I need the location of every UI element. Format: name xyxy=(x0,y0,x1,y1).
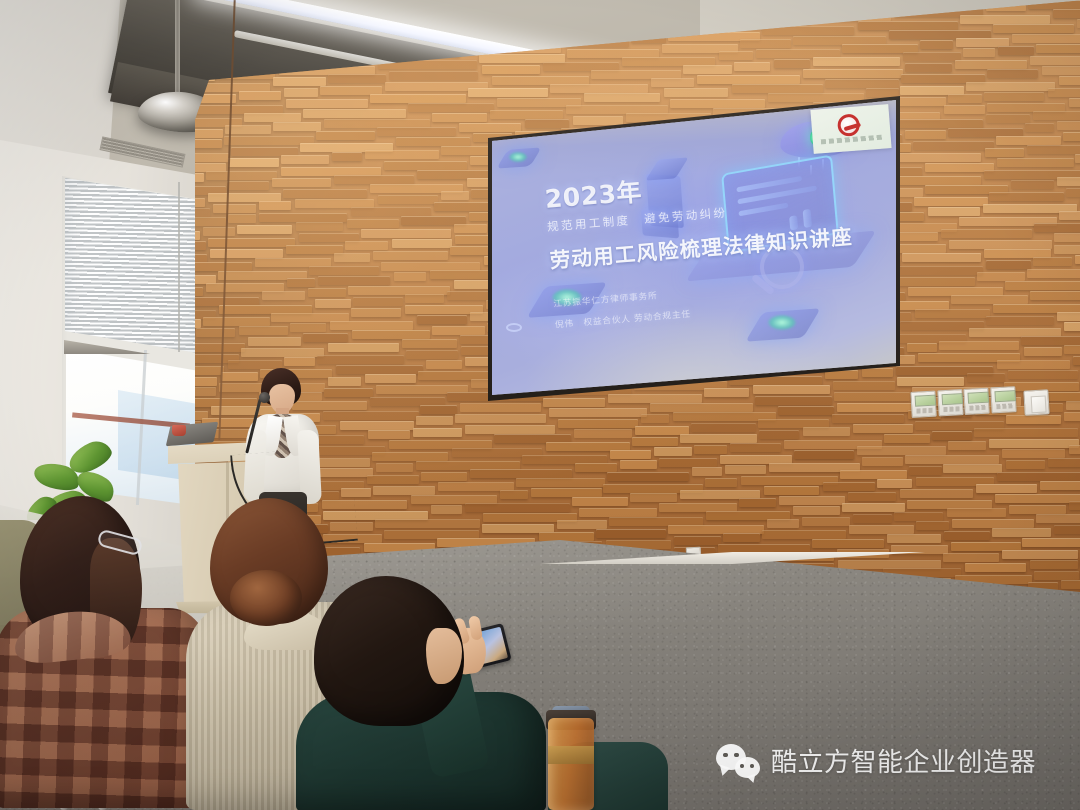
wood-plank xyxy=(704,388,749,397)
wood-plank xyxy=(943,464,1002,473)
wood-plank xyxy=(303,109,405,118)
wood-plank xyxy=(764,486,819,495)
wood-plank xyxy=(705,478,737,487)
wood-plank xyxy=(557,520,607,529)
wood-plank xyxy=(1054,525,1080,534)
wood-plank xyxy=(725,465,766,474)
wood-plank xyxy=(834,392,910,401)
wood-plank xyxy=(328,343,400,352)
wood-plank xyxy=(734,62,770,71)
wood-plank xyxy=(377,127,456,136)
wood-plank xyxy=(858,21,959,30)
wood-plank xyxy=(900,489,973,498)
wood-plank xyxy=(516,478,605,487)
wood-plank xyxy=(244,113,301,122)
wood-plank xyxy=(641,414,670,423)
wood-plank xyxy=(740,39,791,48)
wood-plank xyxy=(195,129,223,138)
wood-plank xyxy=(284,357,315,366)
wood-plank xyxy=(543,398,605,407)
wood-plank xyxy=(949,240,1053,249)
wood-plank xyxy=(500,490,528,499)
wood-plank xyxy=(421,472,466,481)
wood-plank xyxy=(426,360,461,369)
wood-plank xyxy=(907,500,992,509)
wood-plank xyxy=(316,131,374,140)
thermostat-panel[interactable] xyxy=(910,391,936,418)
wechat-dot xyxy=(723,753,728,758)
wood-plank xyxy=(324,388,373,397)
wood-plank xyxy=(573,116,623,125)
wood-plank xyxy=(195,377,217,386)
wood-plank xyxy=(650,403,753,412)
wood-plank xyxy=(1002,550,1078,559)
wood-plank xyxy=(323,411,419,420)
wood-plank xyxy=(303,333,348,342)
wood-plank xyxy=(420,405,456,414)
wood-plank xyxy=(908,287,1003,296)
wood-plank xyxy=(402,339,457,348)
microphone-head-icon xyxy=(259,392,270,403)
wood-plank xyxy=(370,94,466,103)
wood-plank xyxy=(963,48,995,57)
wood-plank xyxy=(853,424,913,433)
wood-plank xyxy=(465,425,555,434)
wood-plank xyxy=(482,65,540,74)
wood-plank xyxy=(753,385,830,394)
slide-logo-card xyxy=(810,104,891,154)
wood-plank xyxy=(351,207,431,216)
wood-plank xyxy=(272,178,331,187)
wood-plank xyxy=(286,99,369,108)
tea-flask[interactable] xyxy=(548,718,594,810)
wood-plank xyxy=(376,463,413,472)
wood-plank xyxy=(1012,34,1080,43)
wood-plank xyxy=(909,466,942,475)
wood-plank xyxy=(195,153,229,162)
wood-plank xyxy=(579,508,656,517)
wood-plank xyxy=(367,475,419,484)
wood-plank xyxy=(1064,345,1080,354)
wood-plank xyxy=(405,294,443,303)
wood-plank xyxy=(905,455,1000,464)
wood-plank xyxy=(986,114,1031,123)
wood-plank xyxy=(898,119,984,128)
wechat-dot xyxy=(734,753,739,758)
wood-plank xyxy=(332,152,363,161)
photo-scene: 2023年 规范用工制度 避免劳动纠纷 劳动用工风险梳理法律知识讲座 江苏振华仁… xyxy=(0,0,1080,810)
wood-plank xyxy=(308,288,346,297)
wood-plank xyxy=(997,472,1080,481)
thermostat-panel[interactable] xyxy=(937,389,963,416)
wood-plank xyxy=(239,326,288,335)
watermark-text: 酷立方智能企业创造器 xyxy=(771,742,1036,779)
wood-plank xyxy=(1075,154,1080,163)
flask-label-band xyxy=(548,746,594,764)
wood-plank xyxy=(832,414,904,423)
wood-plank xyxy=(902,253,981,262)
wood-plank xyxy=(490,110,563,119)
wood-plank xyxy=(894,512,943,521)
wood-plank xyxy=(833,381,895,390)
wood-plank xyxy=(206,171,277,180)
wood-plank xyxy=(1059,76,1080,85)
watermark: 酷立方智能企业创造器 xyxy=(716,742,1036,779)
wechat-bubble-small xyxy=(735,757,760,778)
logo-wordmark xyxy=(821,135,883,145)
wood-plank xyxy=(1006,415,1061,424)
wood-plank xyxy=(1054,245,1080,254)
wood-plank xyxy=(365,374,416,383)
wood-plank xyxy=(195,198,205,207)
blinds-cord[interactable] xyxy=(178,182,180,352)
wood-plank xyxy=(1042,66,1080,75)
wood-plank xyxy=(683,65,732,74)
wood-plank xyxy=(195,241,206,250)
wood-plank xyxy=(793,506,839,515)
wechat-dot xyxy=(750,764,754,768)
wood-plank xyxy=(318,276,390,285)
wood-plank xyxy=(574,429,632,438)
wood-plank xyxy=(347,219,399,228)
wood-plank xyxy=(1022,538,1080,547)
wood-plank xyxy=(664,88,729,97)
wood-plank xyxy=(290,323,326,332)
wood-plank xyxy=(550,84,647,93)
wood-plank xyxy=(361,229,451,238)
wood-plank xyxy=(759,430,799,439)
wood-plank xyxy=(914,197,988,206)
wood-plank xyxy=(803,427,851,436)
wood-plank xyxy=(334,253,370,262)
wood-plank xyxy=(607,472,689,481)
wood-plank xyxy=(284,88,318,97)
wood-plank xyxy=(368,430,410,439)
wood-plank xyxy=(1005,281,1080,290)
attendee-hair-bun xyxy=(230,570,302,626)
wood-plank xyxy=(915,309,990,318)
wood-plank xyxy=(888,266,983,275)
wood-plank xyxy=(1063,132,1080,141)
wood-plank xyxy=(651,78,694,87)
wood-plank xyxy=(992,528,1052,537)
wood-plank xyxy=(273,77,326,86)
projection-screen[interactable]: 2023年 规范用工制度 避免劳动纠纷 劳动用工风险梳理法律知识讲座 江苏振华仁… xyxy=(492,99,896,395)
wood-plank xyxy=(998,46,1034,55)
wood-plank xyxy=(620,460,657,469)
wood-plank xyxy=(468,88,548,97)
wood-plank xyxy=(986,260,1031,269)
wood-plank xyxy=(948,441,986,450)
wood-plank xyxy=(877,479,912,488)
wood-plank xyxy=(897,377,964,386)
wood-plank xyxy=(928,207,981,216)
wood-plank xyxy=(1002,449,1065,458)
wood-plank xyxy=(848,492,896,501)
wood-plank xyxy=(353,297,403,306)
wood-plank xyxy=(365,150,439,159)
wood-plank xyxy=(239,91,281,100)
wood-plank xyxy=(1053,9,1080,18)
wood-plank xyxy=(408,103,494,112)
wood-plank xyxy=(719,51,753,60)
wood-plank xyxy=(723,533,759,542)
wood-plank xyxy=(195,387,216,396)
wood-plank xyxy=(692,467,722,476)
wood-plank xyxy=(920,40,953,49)
wood-plank xyxy=(531,488,602,497)
wood-plank xyxy=(977,272,1025,281)
wood-plank xyxy=(913,141,994,150)
wood-plank xyxy=(1030,56,1080,65)
wood-plank xyxy=(1030,291,1080,300)
wood-plank xyxy=(1030,560,1078,569)
wood-plank xyxy=(802,517,851,526)
wood-plank xyxy=(373,486,434,495)
wood-plank xyxy=(1008,370,1078,379)
thermostat-panel[interactable] xyxy=(963,388,989,415)
wood-plank xyxy=(431,505,462,514)
wood-plank xyxy=(862,368,893,377)
wood-plank xyxy=(351,308,401,317)
wood-plank xyxy=(889,176,981,185)
wood-plank xyxy=(432,113,487,122)
wood-plank xyxy=(803,69,903,78)
wood-plank xyxy=(670,99,765,108)
wood-plank xyxy=(903,52,961,61)
wood-plank xyxy=(887,534,941,543)
wood-plank xyxy=(813,57,900,66)
wood-plank xyxy=(1061,580,1080,589)
wood-plank xyxy=(459,123,522,132)
wood-plank xyxy=(1027,269,1080,278)
wood-plank xyxy=(956,38,1009,47)
wood-plank xyxy=(227,181,269,190)
wood-plank xyxy=(1075,255,1080,264)
wood-plank xyxy=(470,469,572,478)
wood-plank xyxy=(225,125,271,134)
wood-plank xyxy=(905,63,952,72)
wood-plank xyxy=(732,84,823,93)
wood-plank xyxy=(392,239,452,248)
wood-plank xyxy=(283,189,366,198)
wood-plank xyxy=(1006,460,1045,469)
wood-plank xyxy=(432,326,485,335)
wood-plank xyxy=(862,457,903,466)
wood-plank xyxy=(1040,481,1080,490)
wood-plank xyxy=(195,173,204,182)
wood-plank xyxy=(525,119,569,128)
wood-plank xyxy=(823,482,875,491)
wood-plank xyxy=(825,79,899,88)
wood-plank xyxy=(697,75,801,84)
wood-plank xyxy=(1057,177,1080,186)
wechat-dot xyxy=(740,764,744,768)
wood-plank xyxy=(1054,233,1080,242)
wood-plank xyxy=(1048,458,1080,467)
wood-plank xyxy=(767,519,799,528)
wood-plank xyxy=(1066,188,1080,197)
wood-plank xyxy=(1066,401,1080,410)
wood-plank xyxy=(768,93,863,102)
wood-plank xyxy=(372,452,448,461)
wood-plank xyxy=(237,225,292,234)
wood-plank xyxy=(328,74,386,83)
wood-plank xyxy=(262,291,306,300)
wood-plank xyxy=(955,60,1028,69)
wood-plank xyxy=(430,270,496,279)
wood-plank xyxy=(340,421,414,430)
pendant-light-rod xyxy=(175,0,180,100)
wall-light-switch[interactable] xyxy=(1023,389,1049,415)
wood-plank xyxy=(558,419,638,428)
wood-plank xyxy=(630,493,677,502)
wood-plank xyxy=(210,249,283,258)
wood-plank xyxy=(884,434,930,443)
slide-ring-icon xyxy=(506,323,522,332)
wood-plank xyxy=(378,195,438,204)
wood-plank xyxy=(989,439,1078,448)
wood-plank xyxy=(659,458,717,467)
wood-plank xyxy=(907,343,937,352)
wood-plank xyxy=(336,365,423,374)
wood-plank xyxy=(939,341,1019,350)
wood-plank xyxy=(195,319,201,328)
wood-plank xyxy=(1009,505,1066,514)
wood-plank xyxy=(417,315,467,324)
wood-plank xyxy=(315,299,351,308)
wood-plank xyxy=(1069,98,1080,107)
wood-plank xyxy=(1034,571,1079,580)
wood-plank xyxy=(1025,123,1054,132)
wood-plank xyxy=(441,191,469,200)
wood-plank xyxy=(334,175,414,184)
wood-plank xyxy=(373,251,448,260)
wood-plank xyxy=(287,278,315,287)
wood-plank xyxy=(1073,356,1080,365)
wood-plank xyxy=(997,360,1071,369)
wood-plank xyxy=(1036,44,1080,53)
wood-plank xyxy=(1064,412,1080,421)
wood-plank xyxy=(888,153,981,162)
wood-plank xyxy=(196,328,234,337)
wood-plank xyxy=(976,484,1036,493)
wood-plank xyxy=(794,450,854,459)
wood-plank xyxy=(394,272,426,281)
wood-plank xyxy=(584,93,660,102)
wood-plank xyxy=(1036,514,1080,523)
wood-plank xyxy=(674,536,721,545)
wood-plank xyxy=(195,217,226,226)
wood-plank xyxy=(1057,121,1080,130)
wood-plank xyxy=(895,97,946,106)
wood-plank xyxy=(866,88,899,97)
wood-plank xyxy=(465,503,571,512)
wood-plank xyxy=(345,241,388,250)
wood-plank xyxy=(596,529,666,538)
wood-plank xyxy=(203,317,270,326)
wechat-icon xyxy=(716,744,760,778)
wood-plank xyxy=(228,214,256,223)
wood-plank xyxy=(1064,322,1080,331)
wood-plank xyxy=(375,519,480,528)
wood-plank xyxy=(248,337,301,346)
wood-plank xyxy=(413,428,462,437)
wood-plank xyxy=(694,445,726,454)
wood-plank xyxy=(195,139,222,148)
wood-plank xyxy=(273,122,321,131)
wood-plank xyxy=(932,431,972,440)
wood-plank xyxy=(985,148,1024,157)
wood-plank xyxy=(944,531,990,540)
wood-plank xyxy=(572,497,627,506)
wood-plank xyxy=(916,521,949,530)
wood-plank xyxy=(778,406,834,415)
wood-plank xyxy=(241,348,324,357)
wood-plank xyxy=(974,428,1078,437)
wood-plank xyxy=(549,408,647,417)
wood-plank xyxy=(951,295,1028,304)
wood-plank xyxy=(965,563,1026,572)
wood-plank xyxy=(213,204,256,213)
wood-plank xyxy=(952,519,1034,528)
wood-plank xyxy=(1033,111,1080,120)
wood-plank xyxy=(1034,223,1080,232)
wood-plank xyxy=(947,508,1006,517)
wood-plank xyxy=(1069,501,1080,510)
law-firm-logo-icon xyxy=(837,113,861,137)
wood-plank xyxy=(406,350,458,359)
wood-plank xyxy=(416,416,453,425)
wood-plank xyxy=(454,224,486,233)
wood-plank xyxy=(328,377,361,386)
wood-plank xyxy=(986,316,1054,325)
wood-plank xyxy=(195,231,200,240)
wood-plank xyxy=(259,201,291,210)
wood-plank xyxy=(296,222,344,231)
wood-plank xyxy=(993,24,1074,33)
wood-plank xyxy=(460,403,541,412)
slide-chip-glow-icon xyxy=(509,152,527,162)
wood-plank xyxy=(1048,88,1080,97)
wood-plank xyxy=(309,266,379,275)
audience-member-photographing xyxy=(296,570,586,810)
wood-plank xyxy=(1059,211,1080,220)
wood-plank xyxy=(455,414,547,423)
wood-plank xyxy=(944,105,985,114)
wood-plank xyxy=(1011,180,1053,189)
wood-plank xyxy=(203,227,235,236)
wood-plank xyxy=(608,394,702,403)
wood-plank xyxy=(195,287,203,296)
wood-plank xyxy=(208,238,295,247)
wood-plank xyxy=(654,447,692,456)
slide-chip-glow-icon xyxy=(768,315,796,330)
wood-plank xyxy=(739,498,776,507)
thermostat-panel[interactable] xyxy=(990,386,1016,413)
wood-plank xyxy=(259,213,348,222)
wood-plank xyxy=(812,539,884,548)
wood-plank xyxy=(389,71,479,80)
wood-plank xyxy=(1057,312,1080,321)
wood-plank xyxy=(575,463,617,472)
wood-plank xyxy=(989,192,1064,201)
wood-plank xyxy=(539,532,594,541)
wood-plank xyxy=(330,321,414,330)
wood-plank xyxy=(948,94,982,103)
wood-plank xyxy=(987,69,1038,78)
wood-plank xyxy=(960,15,1050,24)
